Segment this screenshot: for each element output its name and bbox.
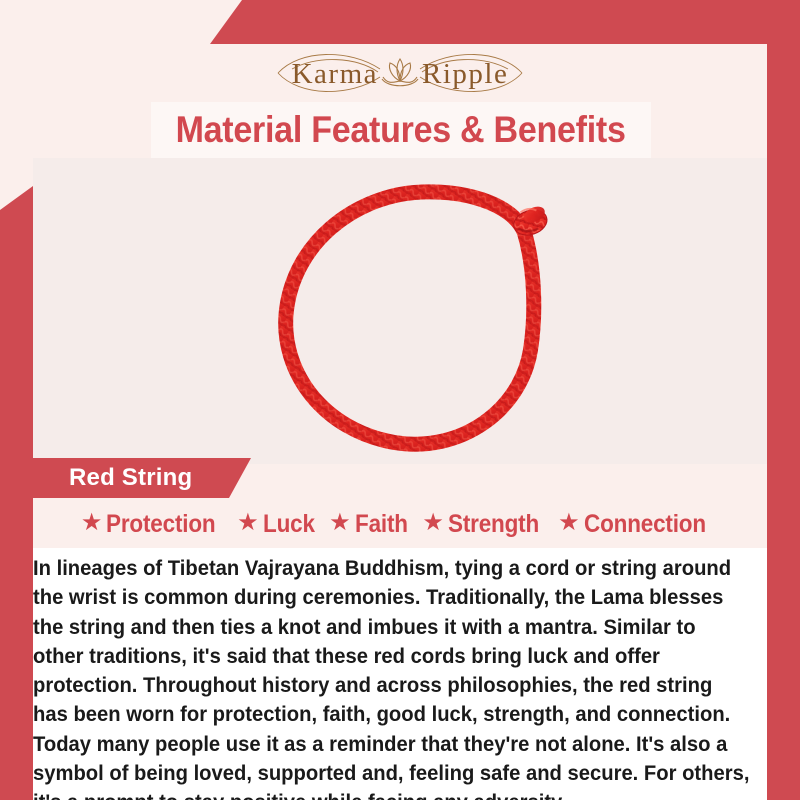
- infographic-page: Karma Ripple Material Features & Benefit…: [0, 0, 800, 800]
- content-canvas: Karma Ripple Material Features & Benefit…: [33, 44, 767, 765]
- material-ribbon-banner: Red String: [33, 458, 251, 498]
- bracelet-knot: [511, 204, 551, 240]
- page-title-band: Material Features & Benefits: [151, 102, 651, 158]
- description-paragraph: In lineages of Tibetan Vajrayana Buddhis…: [33, 554, 750, 800]
- benefit-label: Connection: [584, 510, 706, 539]
- frame-top-right-accent: [210, 0, 800, 44]
- red-braided-string-bracelet: [262, 181, 582, 465]
- benefit-label: Strength: [448, 510, 539, 539]
- brand-name-right: Ripple: [422, 58, 508, 90]
- star-icon: ★: [558, 511, 580, 535]
- brand-logo: Karma Ripple: [33, 44, 767, 102]
- benefit-item-connection: ★ Connection: [558, 510, 719, 539]
- brand-name-left: Karma: [292, 58, 378, 90]
- benefit-item-luck: ★ Luck: [237, 510, 320, 539]
- bracelet-cord-shading: [286, 192, 534, 444]
- frame-right-accent: [767, 44, 800, 800]
- lotus-icon: [382, 59, 418, 86]
- benefit-item-protection: ★ Protection: [81, 510, 228, 539]
- benefit-label: Faith: [355, 510, 408, 539]
- description-area: In lineages of Tibetan Vajrayana Buddhis…: [33, 548, 767, 800]
- star-icon: ★: [329, 511, 351, 535]
- material-name: Red String: [33, 464, 192, 492]
- star-icon: ★: [422, 511, 444, 535]
- benefit-item-faith: ★ Faith: [329, 510, 413, 539]
- frame-left-accent: [0, 186, 33, 800]
- page-title: Material Features & Benefits: [176, 109, 626, 151]
- product-image-area: [33, 158, 767, 464]
- benefit-label: Luck: [263, 510, 315, 539]
- brand-logo-svg: Karma Ripple: [230, 47, 570, 99]
- benefit-item-strength: ★ Strength: [422, 510, 549, 539]
- star-icon: ★: [237, 511, 259, 535]
- benefits-list: ★ Protection ★ Luck ★ Faith ★ Strength ★…: [33, 500, 767, 548]
- star-icon: ★: [81, 511, 103, 535]
- benefit-label: Protection: [106, 510, 215, 539]
